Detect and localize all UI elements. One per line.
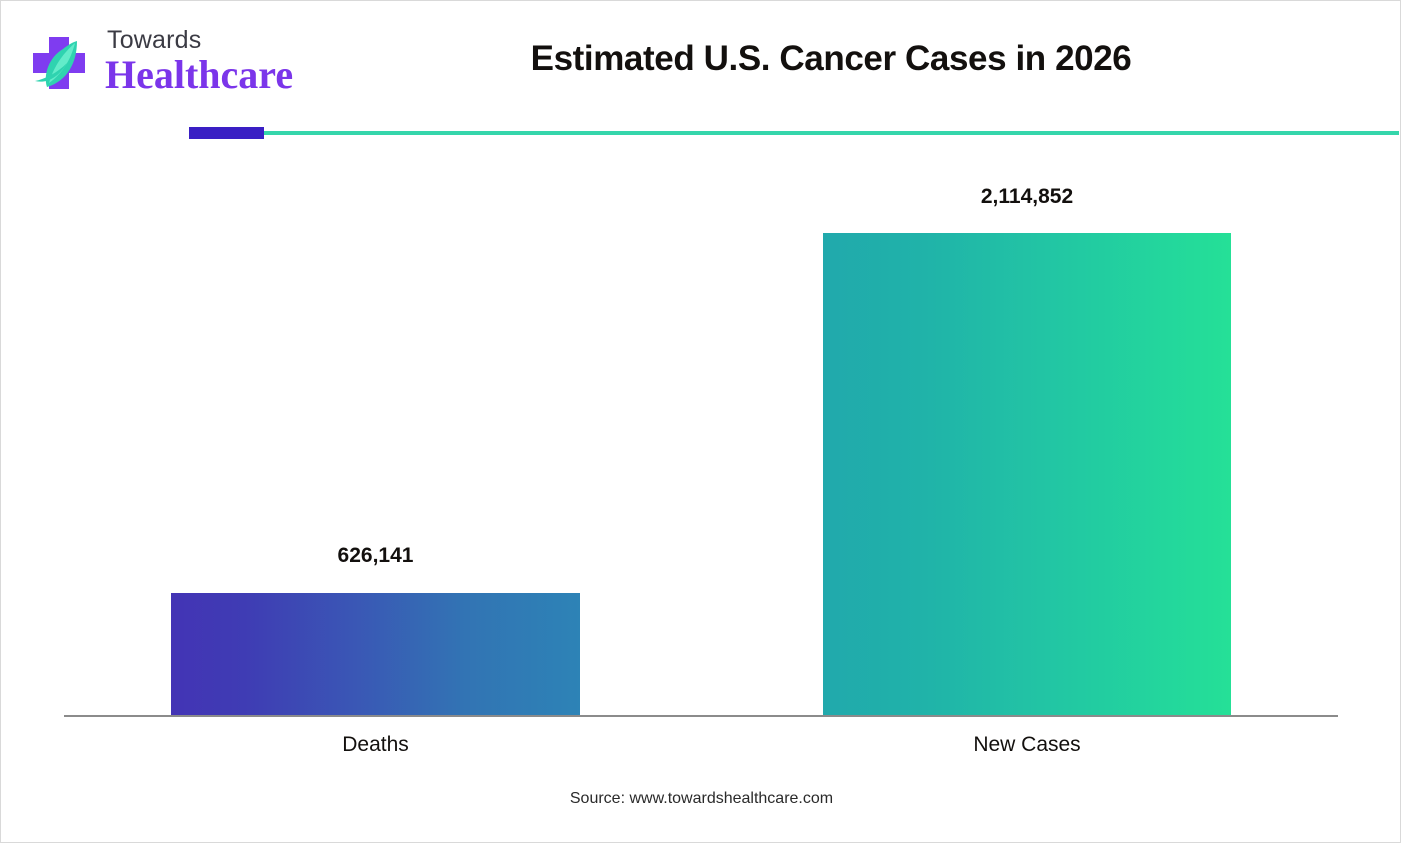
bar-chart: 2,114,852 626,141 Deaths New Cases	[1, 1, 1401, 843]
bar-new-cases	[823, 233, 1231, 716]
bar-value-label: 2,114,852	[823, 185, 1231, 209]
bar-value-label: 626,141	[171, 544, 580, 568]
x-axis-line	[64, 715, 1338, 717]
chart-page: Towards Healthcare Estimated U.S. Cancer…	[0, 0, 1401, 843]
source-caption: Source: www.towardshealthcare.com	[1, 790, 1401, 808]
x-axis-label-deaths: Deaths	[171, 733, 580, 757]
bar-deaths	[171, 593, 580, 716]
x-axis-label-new-cases: New Cases	[823, 733, 1231, 757]
